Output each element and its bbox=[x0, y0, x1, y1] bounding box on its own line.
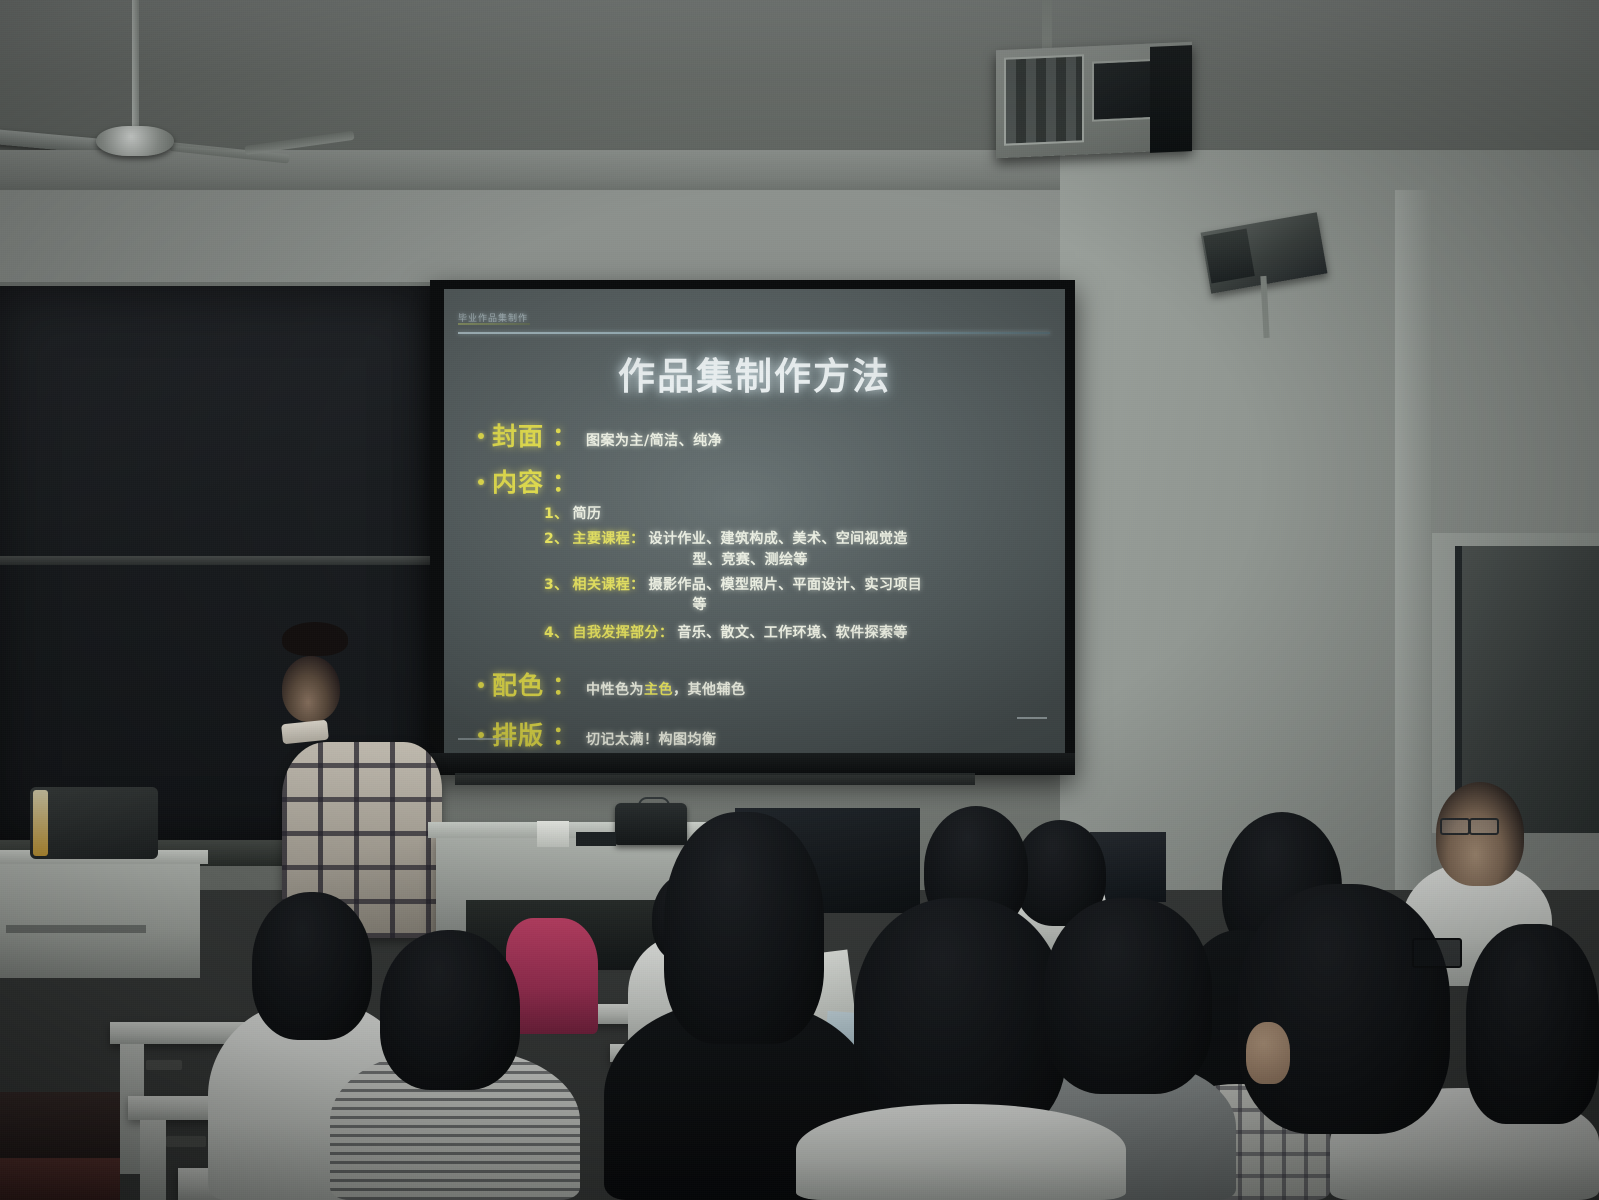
content-item-number: 3、 bbox=[544, 575, 569, 616]
bullet-value: 切记太满！构图均衡 bbox=[586, 729, 717, 749]
student-shoulders bbox=[796, 1104, 1126, 1200]
projector-lens-housing bbox=[1150, 45, 1192, 153]
content-item-key: 主要课程： bbox=[573, 529, 645, 570]
content-item-text: 摄影作品、模型照片、平面设计、实习项目 等 bbox=[649, 575, 923, 616]
slide-bullet-list: 封面 ： 图案为主/简洁、纯净 内容 ： 1、 简历 2、 主要课程： 设计作业… bbox=[478, 407, 1058, 752]
teacher-desk bbox=[0, 858, 200, 978]
student-head bbox=[664, 812, 824, 1044]
bullet-value-pre: 中性色为 bbox=[586, 682, 644, 698]
content-item: 1、 简历 bbox=[544, 504, 1058, 524]
content-item-text: 简历 bbox=[573, 504, 602, 524]
content-item-key: 相关课程： bbox=[573, 575, 645, 616]
projector-mount bbox=[1042, 0, 1052, 50]
slide-header-underline bbox=[458, 323, 530, 325]
slide-footer-mark-left bbox=[458, 738, 512, 740]
eyeglasses-icon bbox=[1469, 818, 1499, 835]
content-item-number: 4、 bbox=[544, 623, 569, 643]
eyeglasses-icon bbox=[1412, 938, 1462, 968]
bullet-value-post: ，其他辅色 bbox=[673, 682, 746, 698]
projector-vent-grille bbox=[1004, 54, 1084, 145]
bullet-separator: ： bbox=[552, 463, 578, 499]
content-item-line2: 型、竞赛、测绘等 bbox=[649, 550, 908, 570]
wall-column bbox=[1395, 190, 1431, 890]
content-item-line2: 等 bbox=[649, 595, 923, 615]
student-hand bbox=[1246, 1022, 1290, 1084]
slide-bullet-colorscheme: 配色 ： 中性色为主色，其他辅色 bbox=[478, 666, 1058, 702]
bag-on-teacher-desk bbox=[30, 787, 158, 859]
bullet-dot-icon bbox=[478, 732, 484, 738]
presenter-head bbox=[282, 656, 340, 722]
bullet-label: 内容 bbox=[492, 463, 544, 499]
eyeglasses-icon bbox=[1440, 818, 1470, 835]
student-head bbox=[1044, 898, 1212, 1094]
bullet-separator: ： bbox=[552, 417, 578, 453]
dark-object-on-podium bbox=[576, 832, 616, 846]
student-desk-slot bbox=[166, 1136, 206, 1147]
presenter-hair bbox=[282, 622, 348, 656]
white-box-on-podium bbox=[537, 821, 569, 847]
floor bbox=[0, 1092, 120, 1162]
screen-bottom-bar bbox=[430, 753, 1075, 775]
content-item: 3、 相关课程： 摄影作品、模型照片、平面设计、实习项目 等 bbox=[544, 575, 1058, 616]
content-item-key: 自我发挥部分： bbox=[573, 623, 674, 643]
slide-bullet-content: 内容 ： bbox=[478, 463, 1058, 499]
student-head bbox=[252, 892, 372, 1040]
student-desk-slot bbox=[146, 1060, 182, 1070]
ceiling-fan-motor bbox=[96, 126, 174, 156]
content-item-number: 2、 bbox=[544, 529, 569, 570]
content-item-line1: 摄影作品、模型照片、平面设计、实习项目 bbox=[649, 577, 923, 593]
classroom-photo: 毕业作品集制作 作品集制作方法 封面 ： 图案为主/简洁、纯净 内容 ： 1、 … bbox=[0, 0, 1599, 1200]
bullet-separator: ： bbox=[552, 666, 578, 702]
content-item-text: 设计作业、建筑构成、美术、空间视觉造 型、竞赛、测绘等 bbox=[649, 529, 908, 570]
bullet-value: 中性色为主色，其他辅色 bbox=[586, 679, 746, 699]
slide-bullet-layout: 排版 ： 切记太满！构图均衡 bbox=[478, 716, 1058, 752]
content-item-text: 音乐、散文、工作环境、软件探索等 bbox=[677, 623, 907, 643]
bullet-dot-icon bbox=[478, 479, 484, 485]
blackboard-ledge bbox=[0, 556, 438, 565]
floor bbox=[0, 1158, 120, 1200]
bullet-separator: ： bbox=[552, 716, 578, 752]
teacher-desk-slot bbox=[6, 925, 146, 933]
student-head bbox=[380, 930, 520, 1090]
ceiling-fan-rod bbox=[132, 0, 139, 128]
bullet-label: 排版 bbox=[492, 716, 544, 752]
content-item-number: 1、 bbox=[544, 504, 569, 524]
bag-on-podium bbox=[615, 803, 687, 845]
content-item: 2、 主要课程： 设计作业、建筑构成、美术、空间视觉造 型、竞赛、测绘等 bbox=[544, 529, 1058, 570]
bullet-dot-icon bbox=[478, 433, 484, 439]
slide-bullet-cover: 封面 ： 图案为主/简洁、纯净 bbox=[478, 417, 1058, 453]
bullet-dot-icon bbox=[478, 682, 484, 688]
screen-bottom-bar-2 bbox=[455, 773, 975, 785]
bullet-label: 配色 bbox=[492, 666, 544, 702]
slide-header-rule bbox=[458, 332, 1050, 334]
slide-title: 作品集制作方法 bbox=[444, 346, 1065, 400]
bullet-value-highlight: 主色 bbox=[644, 682, 673, 698]
presentation-slide: 毕业作品集制作 作品集制作方法 封面 ： 图案为主/简洁、纯净 内容 ： 1、 … bbox=[444, 289, 1065, 753]
bullet-value: 图案为主/简洁、纯净 bbox=[586, 430, 722, 450]
bottle-on-teacher-desk bbox=[33, 790, 48, 856]
content-item: 4、 自我发挥部分： 音乐、散文、工作环境、软件探索等 bbox=[544, 623, 1058, 643]
student-head bbox=[1238, 884, 1450, 1134]
slide-footer-mark-right bbox=[1017, 717, 1047, 719]
bullet-label: 封面 bbox=[492, 417, 544, 453]
student-head bbox=[1466, 924, 1599, 1124]
content-item-line1: 设计作业、建筑构成、美术、空间视觉造 bbox=[649, 531, 908, 547]
wall-speaker-grille bbox=[1203, 229, 1255, 284]
presenter-collar bbox=[281, 720, 329, 745]
student-desk-side bbox=[140, 1120, 166, 1200]
